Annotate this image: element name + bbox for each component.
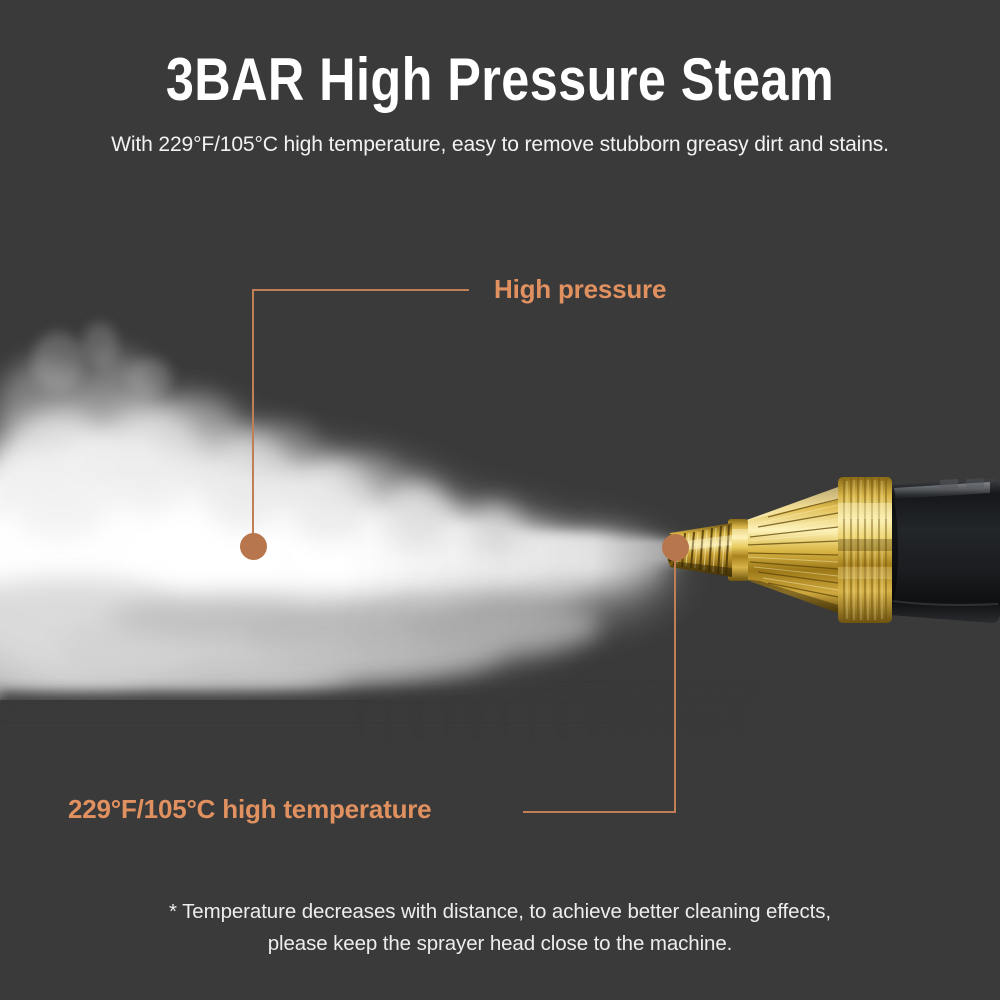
footnote-line-1: * Temperature decreases with distance, t…: [0, 896, 1000, 928]
brass-steam-nozzle: [640, 455, 1000, 645]
footnote-line-2: please keep the sprayer head close to th…: [0, 928, 1000, 960]
page-subtitle: With 229°F/105°C high temperature, easy …: [10, 110, 990, 157]
steam-gun-body: [878, 478, 1000, 623]
nozzle-neck: [728, 519, 748, 581]
page-title: 3BAR High Pressure Steam: [80, 0, 920, 110]
header: 3BAR High Pressure Steam With 229°F/105°…: [0, 0, 1000, 157]
callout-dot-temperature: [662, 534, 689, 561]
footnote: * Temperature decreases with distance, t…: [0, 896, 1000, 960]
callout-dot-high-pressure: [240, 533, 267, 560]
callout-line-high-pressure-horizontal: [253, 289, 469, 291]
nozzle-cone: [738, 487, 838, 613]
knurled-collar: [838, 477, 892, 623]
callout-line-temperature-horizontal: [523, 811, 676, 813]
callout-line-temperature-vertical: [674, 549, 676, 812]
callout-label-high-pressure: High pressure: [494, 274, 666, 305]
pressurized-steam-plume: [0, 300, 760, 740]
callout-line-high-pressure-vertical: [252, 289, 254, 537]
product-feature-image: 3BAR High Pressure Steam With 229°F/105°…: [0, 0, 1000, 1000]
callout-label-temperature: 229°F/105°C high temperature: [68, 794, 431, 825]
